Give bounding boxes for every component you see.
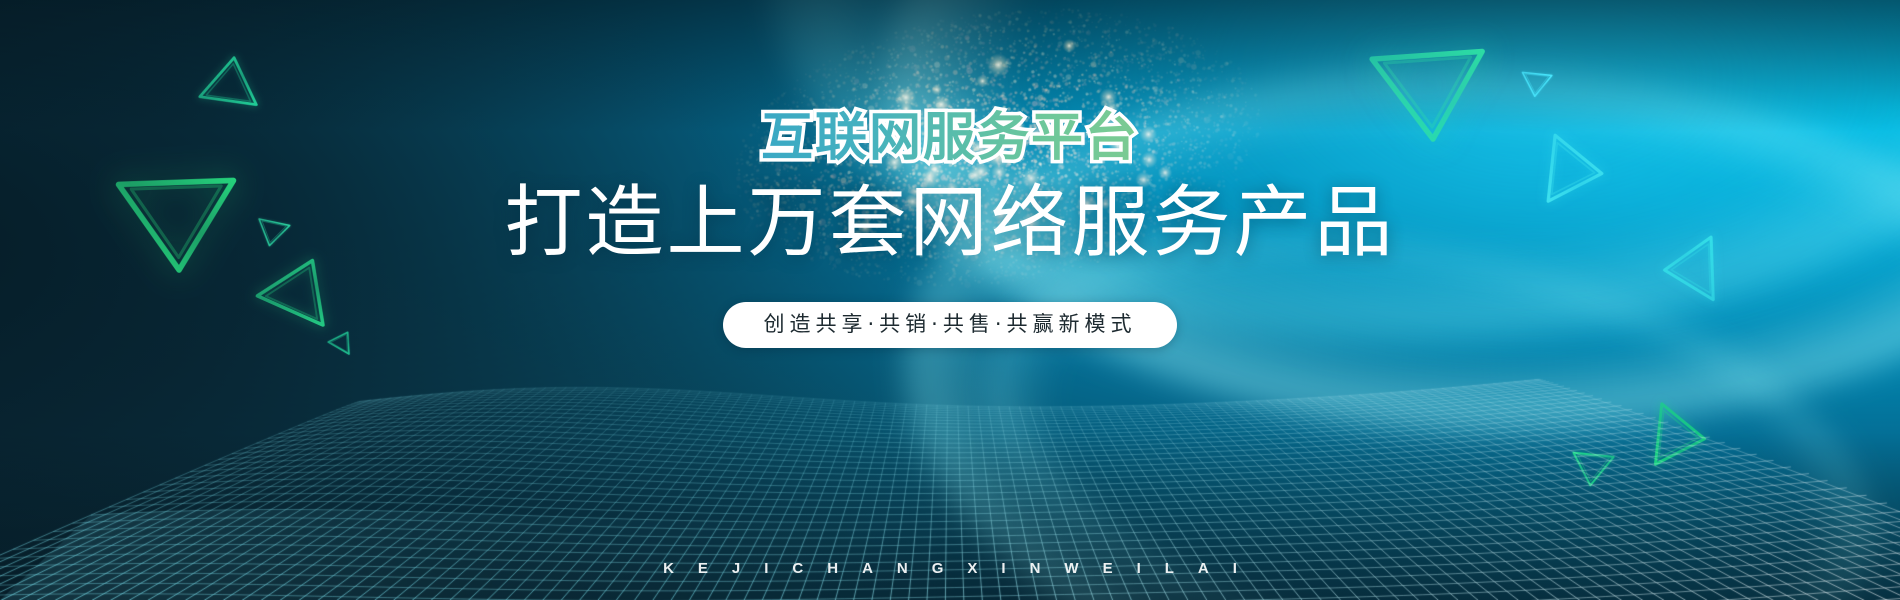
hero-banner: 互联网服务平台 互联网服务平台 打造上万套网络服务产品 创造共享·共销·共售·共… [0, 0, 1900, 600]
background-vignette [0, 0, 1900, 600]
banner-pinyin: KEJICHANGXINWEILAI [0, 560, 1900, 577]
